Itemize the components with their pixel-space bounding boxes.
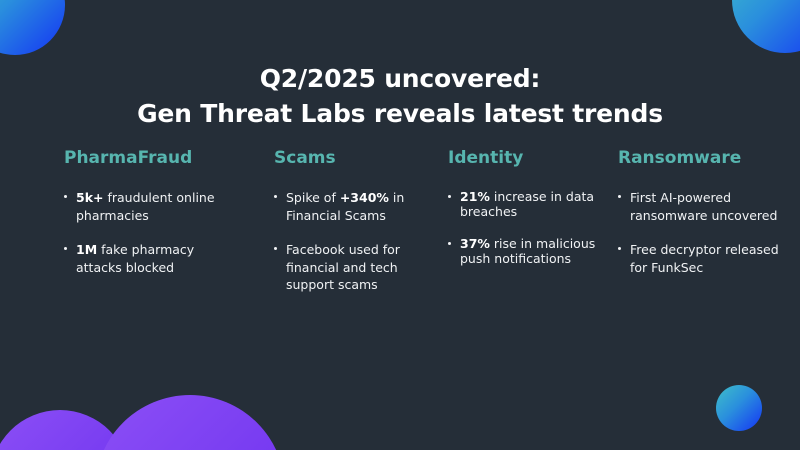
bullet-stat-value: 21% xyxy=(460,189,490,204)
bullet-stat-value: 1M xyxy=(76,242,97,257)
bullet-dot-icon xyxy=(64,195,67,198)
bullet-text: First AI-powered ransomware uncovered xyxy=(630,190,777,223)
bullet-item: First AI-powered ransomware uncovered xyxy=(618,189,788,224)
slide-title-line-2: Gen Threat Labs reveals latest trends xyxy=(0,96,800,131)
decorative-circle-top-right xyxy=(732,0,800,53)
column-heading: Scams xyxy=(274,148,434,169)
decorative-circle-bottom-right xyxy=(716,385,762,431)
topic-column-scams: ScamsSpike of +340% in Financial ScamsFa… xyxy=(274,148,434,294)
topic-column-pharmafraud: PharmaFraud5k+ fraudulent online pharmac… xyxy=(64,148,232,276)
bullet-dot-icon xyxy=(64,247,67,250)
slide-title: Q2/2025 uncovered: Gen Threat Labs revea… xyxy=(0,61,800,131)
bullet-item: 5k+ fraudulent online pharmacies xyxy=(64,189,232,224)
bullet-dot-icon xyxy=(618,195,621,198)
topic-column-identity: Identity21% increase in data breaches37%… xyxy=(448,148,606,266)
bullet-item: 37% rise in malicious push notifications xyxy=(448,236,606,266)
slide-canvas: Q2/2025 uncovered: Gen Threat Labs revea… xyxy=(0,0,800,450)
decorative-circle-bottom-left-large xyxy=(95,395,285,450)
bullet-dot-icon xyxy=(618,247,621,250)
column-heading: Ransomware xyxy=(618,148,788,169)
column-heading: Identity xyxy=(448,148,606,169)
bullet-item: Free decryptor released for FunkSec xyxy=(618,241,788,276)
topic-column-ransomware: RansomwareFirst AI-powered ransomware un… xyxy=(618,148,788,276)
bullet-text: Free decryptor released for FunkSec xyxy=(630,242,779,275)
decorative-circle-top-left xyxy=(0,0,65,55)
bullet-stat-value: 5k+ xyxy=(76,190,103,205)
bullet-item: 21% increase in data breaches xyxy=(448,189,606,219)
column-heading: PharmaFraud xyxy=(64,148,232,169)
slide-title-line-1: Q2/2025 uncovered: xyxy=(0,61,800,96)
bullet-item: 1M fake pharmacy attacks blocked xyxy=(64,241,232,276)
bullet-dot-icon xyxy=(448,195,451,198)
bullet-stat-value: +340% xyxy=(340,190,389,205)
bullet-list: 5k+ fraudulent online pharmacies1M fake … xyxy=(64,189,232,276)
bullet-list: First AI-powered ransomware uncoveredFre… xyxy=(618,189,788,276)
bullet-dot-icon xyxy=(274,247,277,250)
bullet-item: Facebook used for financial and tech sup… xyxy=(274,241,434,294)
bullet-dot-icon xyxy=(448,242,451,245)
bullet-text: Facebook used for financial and tech sup… xyxy=(286,242,400,292)
bullet-list: 21% increase in data breaches37% rise in… xyxy=(448,189,606,266)
decorative-circle-bottom-left-small xyxy=(0,410,130,450)
bullet-stat-value: 37% xyxy=(460,236,490,251)
bullet-text-prefix: Spike of xyxy=(286,190,340,205)
bullet-dot-icon xyxy=(274,195,277,198)
columns-container: PharmaFraud5k+ fraudulent online pharmac… xyxy=(0,148,800,378)
bullet-list: Spike of +340% in Financial ScamsFaceboo… xyxy=(274,189,434,294)
bullet-item: Spike of +340% in Financial Scams xyxy=(274,189,434,224)
